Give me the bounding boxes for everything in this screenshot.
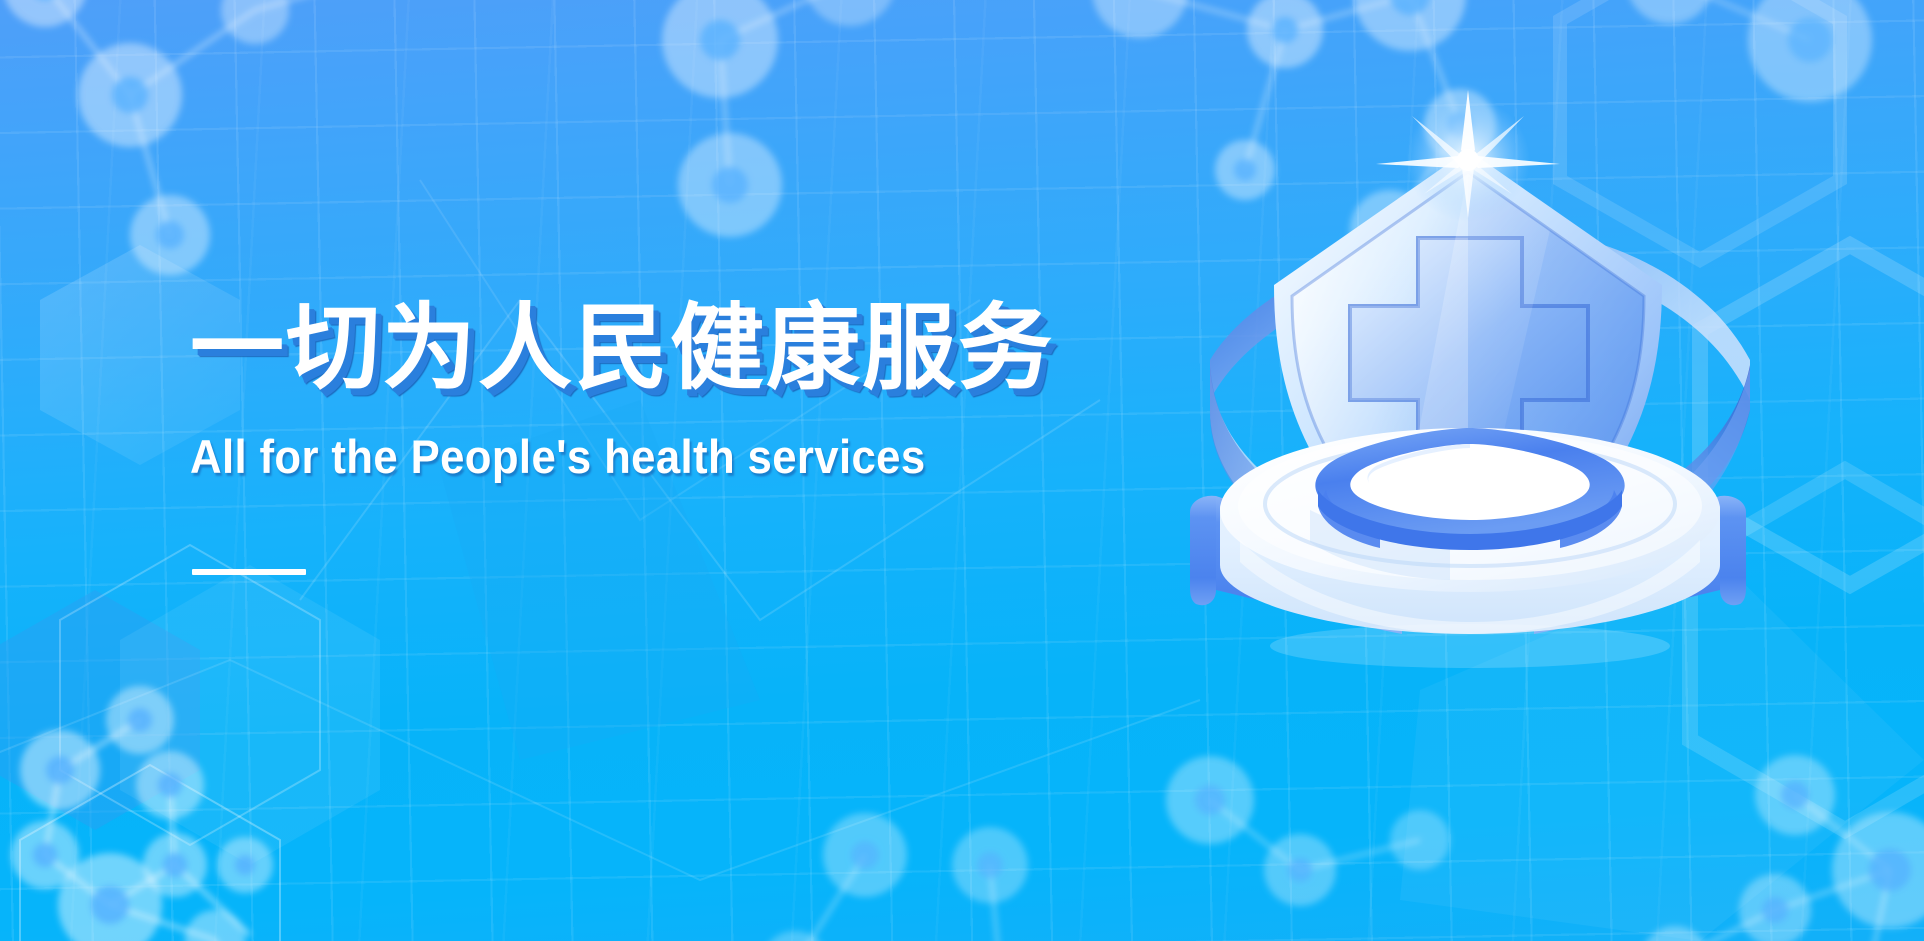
glass-pedestal xyxy=(1190,428,1746,634)
molecule-cluster-bottom-left xyxy=(0,690,560,941)
molecule-cluster-top-left xyxy=(0,0,410,280)
molecule-cluster-bottom-right xyxy=(1120,740,1540,941)
shield-illustration xyxy=(1150,110,1770,710)
health-banner: 一切为人民健康服务 All for the People's health se… xyxy=(0,0,1924,941)
title-divider xyxy=(192,569,306,575)
page-subtitle: All for the People's health services xyxy=(190,431,990,483)
page-title: 一切为人民健康服务 xyxy=(190,296,1050,401)
pedestal-bar-left-cap xyxy=(1190,496,1216,606)
molecule-cluster-bottom-far xyxy=(1600,700,1924,941)
molecule-cluster-bottom-mid xyxy=(700,790,1160,941)
pedestal-bar-right-cap xyxy=(1720,496,1746,606)
banner-text-block: 一切为人民健康服务 All for the People's health se… xyxy=(190,296,1050,575)
molecule-cluster-top-mid xyxy=(600,0,940,250)
